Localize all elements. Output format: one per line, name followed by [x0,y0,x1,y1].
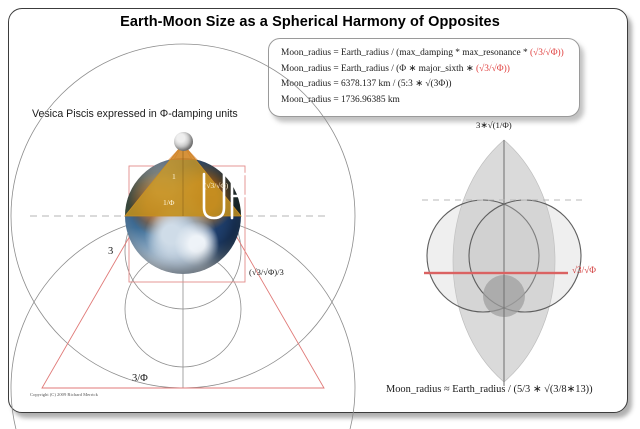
right-diagram: 3∗√(1/Φ) √3/√Φ [422,128,612,394]
formula-text: Moon_radius = Earth_radius / (max_dampin… [281,48,530,58]
label-ratio-over-three: (√3/√Φ)/3 [249,267,284,277]
label-triangle-ratio: (√3/√Φ) [204,181,228,190]
figure-canvas: Earth-Moon Size as a Spherical Harmony o… [0,0,640,429]
formula-text-accent: (√3/√Φ)) [476,64,510,74]
label-triangle-one-over-phi: 1/Φ [163,198,174,207]
label-vertical-axis: 3∗√(1/Φ) [476,120,512,131]
label-base-three-over-phi: 3/Φ [132,373,148,384]
right-diagram-geometry [422,128,612,394]
gold-triangle-overlay [26,126,326,398]
copyright-notice: Copyright (C) 2009 Richard Merrick [30,392,98,397]
label-side-three: 3 [108,246,113,257]
formula-text: Moon_radius = 6378.137 km / (5:3 ∗ √(3Φ)… [281,79,451,89]
label-horizontal-red: √3/√Φ [572,265,596,275]
formula-text: Moon_radius = Earth_radius / (Φ ∗ major_… [281,64,476,74]
moon-image [174,132,193,151]
page-title: Earth-Moon Size as a Spherical Harmony o… [0,14,620,30]
formula-row: Moon_radius = Earth_radius / (max_dampin… [281,46,569,62]
subcaption: Vesica Piscis expressed in Φ-damping uni… [32,108,238,120]
formula-row: Moon_radius = 1736.96385 km [281,93,569,109]
formula-row: Moon_radius = 6378.137 km / (5:3 ∗ √(3Φ)… [281,77,569,93]
bottom-formula: Moon_radius ≈ Earth_radius / (5/3 ∗ √(3/… [386,383,593,395]
label-triangle-one: 1 [172,172,176,181]
left-diagram: 3 3/Φ (√3/√Φ)/3 1 1/Φ (√3/√Φ) [26,126,326,398]
formula-text: Moon_radius = 1736.96385 km [281,95,400,105]
formula-text-accent: (√3/√Φ)) [530,48,564,58]
formula-row: Moon_radius = Earth_radius / (Φ ∗ major_… [281,62,569,78]
